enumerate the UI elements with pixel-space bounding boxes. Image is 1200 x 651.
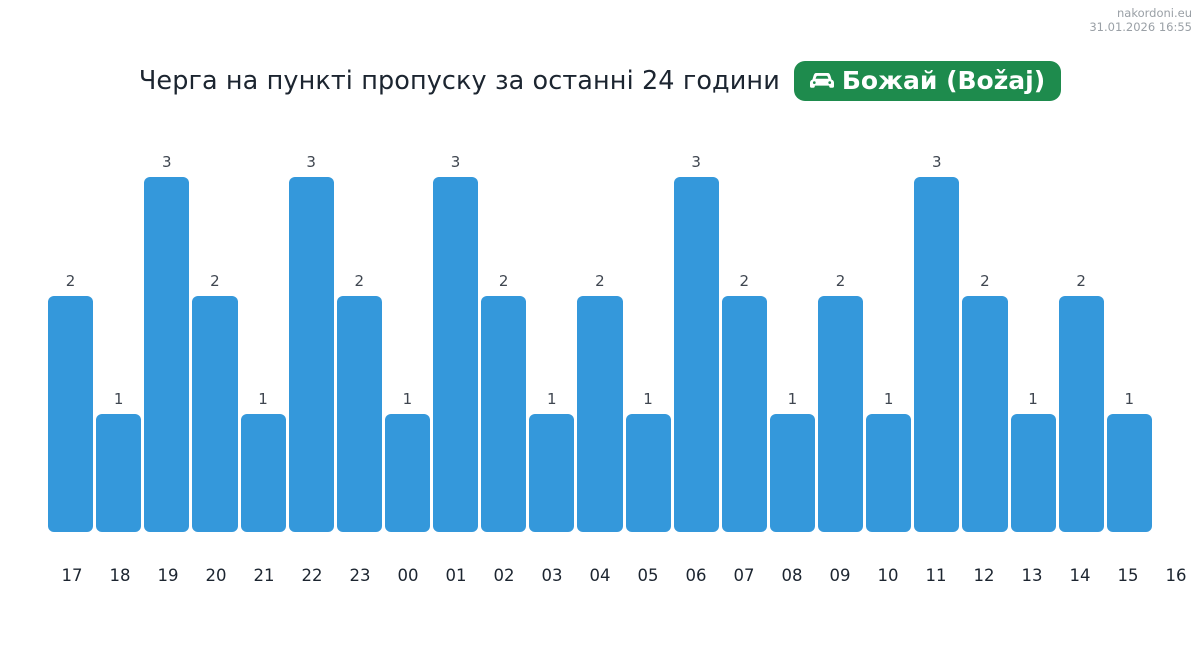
x-tick-label: 21 bbox=[254, 566, 275, 585]
bar-value-label: 2 bbox=[577, 274, 622, 289]
bar-slot[interactable]: 3 bbox=[289, 130, 334, 532]
bar-slot[interactable]: 1 bbox=[770, 130, 815, 532]
bar-value-label: 1 bbox=[241, 392, 286, 407]
bar-value-label: 2 bbox=[337, 274, 382, 289]
x-tick-label: 12 bbox=[974, 566, 995, 585]
bar-slot[interactable]: 1 bbox=[1011, 130, 1056, 532]
bar-slot[interactable]: 3 bbox=[433, 130, 478, 532]
bar-rect[interactable] bbox=[385, 414, 430, 532]
bar-rect[interactable] bbox=[626, 414, 671, 532]
bar-rect[interactable] bbox=[1059, 296, 1104, 532]
station-badge-label: Божай (Božaj) bbox=[842, 68, 1045, 93]
x-tick-label: 08 bbox=[782, 566, 803, 585]
bar-rect[interactable] bbox=[962, 296, 1007, 532]
station-badge[interactable]: Божай (Božaj) bbox=[794, 61, 1061, 101]
bar-rect[interactable] bbox=[337, 296, 382, 532]
x-tick-label: 06 bbox=[686, 566, 707, 585]
bar-value-label: 1 bbox=[1107, 392, 1152, 407]
bar-slot[interactable]: 2 bbox=[481, 130, 526, 532]
bar-value-label: 2 bbox=[818, 274, 863, 289]
x-tick-label: 19 bbox=[158, 566, 179, 585]
x-tick-label: 17 bbox=[62, 566, 83, 585]
x-tick-label: 14 bbox=[1070, 566, 1091, 585]
bar-series: 21321321321213212132121 bbox=[48, 130, 1152, 532]
x-tick-label: 02 bbox=[494, 566, 515, 585]
x-tick-label: 04 bbox=[590, 566, 611, 585]
bar-slot[interactable]: 3 bbox=[914, 130, 959, 532]
bar-rect[interactable] bbox=[481, 296, 526, 532]
bar-value-label: 3 bbox=[289, 155, 334, 170]
bar-slot[interactable]: 2 bbox=[48, 130, 93, 532]
chart-header: Черга на пункті пропуску за останні 24 г… bbox=[0, 56, 1200, 106]
bar-slot[interactable]: 1 bbox=[866, 130, 911, 532]
bar-value-label: 2 bbox=[481, 274, 526, 289]
bar-value-label: 1 bbox=[385, 392, 430, 407]
bar-slot[interactable]: 1 bbox=[1107, 130, 1152, 532]
bar-rect[interactable] bbox=[914, 177, 959, 532]
x-tick-label: 05 bbox=[638, 566, 659, 585]
bar-slot[interactable]: 2 bbox=[722, 130, 767, 532]
bar-slot[interactable]: 1 bbox=[529, 130, 574, 532]
watermark-timestamp: 31.01.2026 16:55 bbox=[1089, 20, 1192, 34]
bar-slot[interactable]: 2 bbox=[1059, 130, 1104, 532]
watermark-site: nakordoni.eu bbox=[1089, 6, 1192, 20]
x-tick-label: 03 bbox=[542, 566, 563, 585]
bar-value-label: 1 bbox=[866, 392, 911, 407]
bar-slot[interactable]: 1 bbox=[626, 130, 671, 532]
x-tick-label: 23 bbox=[350, 566, 371, 585]
bar-value-label: 1 bbox=[529, 392, 574, 407]
bar-slot[interactable]: 3 bbox=[674, 130, 719, 532]
bar-rect[interactable] bbox=[48, 296, 93, 532]
x-tick-label: 13 bbox=[1022, 566, 1043, 585]
bar-rect[interactable] bbox=[1107, 414, 1152, 532]
bar-rect[interactable] bbox=[241, 414, 286, 532]
bar-rect[interactable] bbox=[529, 414, 574, 532]
bar-slot[interactable]: 1 bbox=[96, 130, 141, 532]
bar-rect[interactable] bbox=[433, 177, 478, 532]
x-tick-label: 16 bbox=[1166, 566, 1187, 585]
bar-slot[interactable]: 2 bbox=[577, 130, 622, 532]
x-tick-label: 07 bbox=[734, 566, 755, 585]
bar-rect[interactable] bbox=[722, 296, 767, 532]
bar-slot[interactable]: 2 bbox=[337, 130, 382, 532]
bar-rect[interactable] bbox=[1011, 414, 1056, 532]
bar-slot[interactable]: 2 bbox=[962, 130, 1007, 532]
x-tick-label: 09 bbox=[830, 566, 851, 585]
watermark: nakordoni.eu 31.01.2026 16:55 bbox=[1089, 6, 1192, 35]
bar-slot[interactable]: 1 bbox=[385, 130, 430, 532]
bar-value-label: 2 bbox=[192, 274, 237, 289]
bar-slot[interactable]: 2 bbox=[818, 130, 863, 532]
bar-value-label: 1 bbox=[96, 392, 141, 407]
bar-value-label: 3 bbox=[144, 155, 189, 170]
bar-value-label: 2 bbox=[962, 274, 1007, 289]
bar-value-label: 3 bbox=[433, 155, 478, 170]
page-title: Черга на пункті пропуску за останні 24 г… bbox=[139, 66, 780, 96]
bar-value-label: 1 bbox=[626, 392, 671, 407]
x-tick-label: 11 bbox=[926, 566, 947, 585]
bar-rect[interactable] bbox=[192, 296, 237, 532]
bar-rect[interactable] bbox=[674, 177, 719, 532]
bar-rect[interactable] bbox=[96, 414, 141, 532]
bar-chart-plot: 21321321321213212132121 bbox=[48, 130, 1152, 532]
bar-rect[interactable] bbox=[770, 414, 815, 532]
bar-slot[interactable]: 1 bbox=[241, 130, 286, 532]
bar-slot[interactable]: 3 bbox=[144, 130, 189, 532]
x-tick-label: 22 bbox=[302, 566, 323, 585]
bar-rect[interactable] bbox=[866, 414, 911, 532]
x-tick-label: 15 bbox=[1118, 566, 1139, 585]
x-tick-label: 10 bbox=[878, 566, 899, 585]
x-tick-label: 20 bbox=[206, 566, 227, 585]
bar-value-label: 2 bbox=[1059, 274, 1104, 289]
bar-slot[interactable]: 2 bbox=[192, 130, 237, 532]
x-tick-label: 01 bbox=[446, 566, 467, 585]
bar-value-label: 3 bbox=[674, 155, 719, 170]
bar-rect[interactable] bbox=[289, 177, 334, 532]
x-tick-label: 18 bbox=[110, 566, 131, 585]
bar-value-label: 2 bbox=[722, 274, 767, 289]
x-tick-label: 00 bbox=[398, 566, 419, 585]
bar-value-label: 3 bbox=[914, 155, 959, 170]
x-axis: 1718192021222300010203040506070809101112… bbox=[48, 566, 1152, 590]
bar-value-label: 1 bbox=[770, 392, 815, 407]
bar-rect[interactable] bbox=[818, 296, 863, 532]
bar-rect[interactable] bbox=[144, 177, 189, 532]
car-icon bbox=[807, 70, 837, 92]
bar-value-label: 2 bbox=[48, 274, 93, 289]
bar-rect[interactable] bbox=[577, 296, 622, 532]
bar-value-label: 1 bbox=[1011, 392, 1056, 407]
